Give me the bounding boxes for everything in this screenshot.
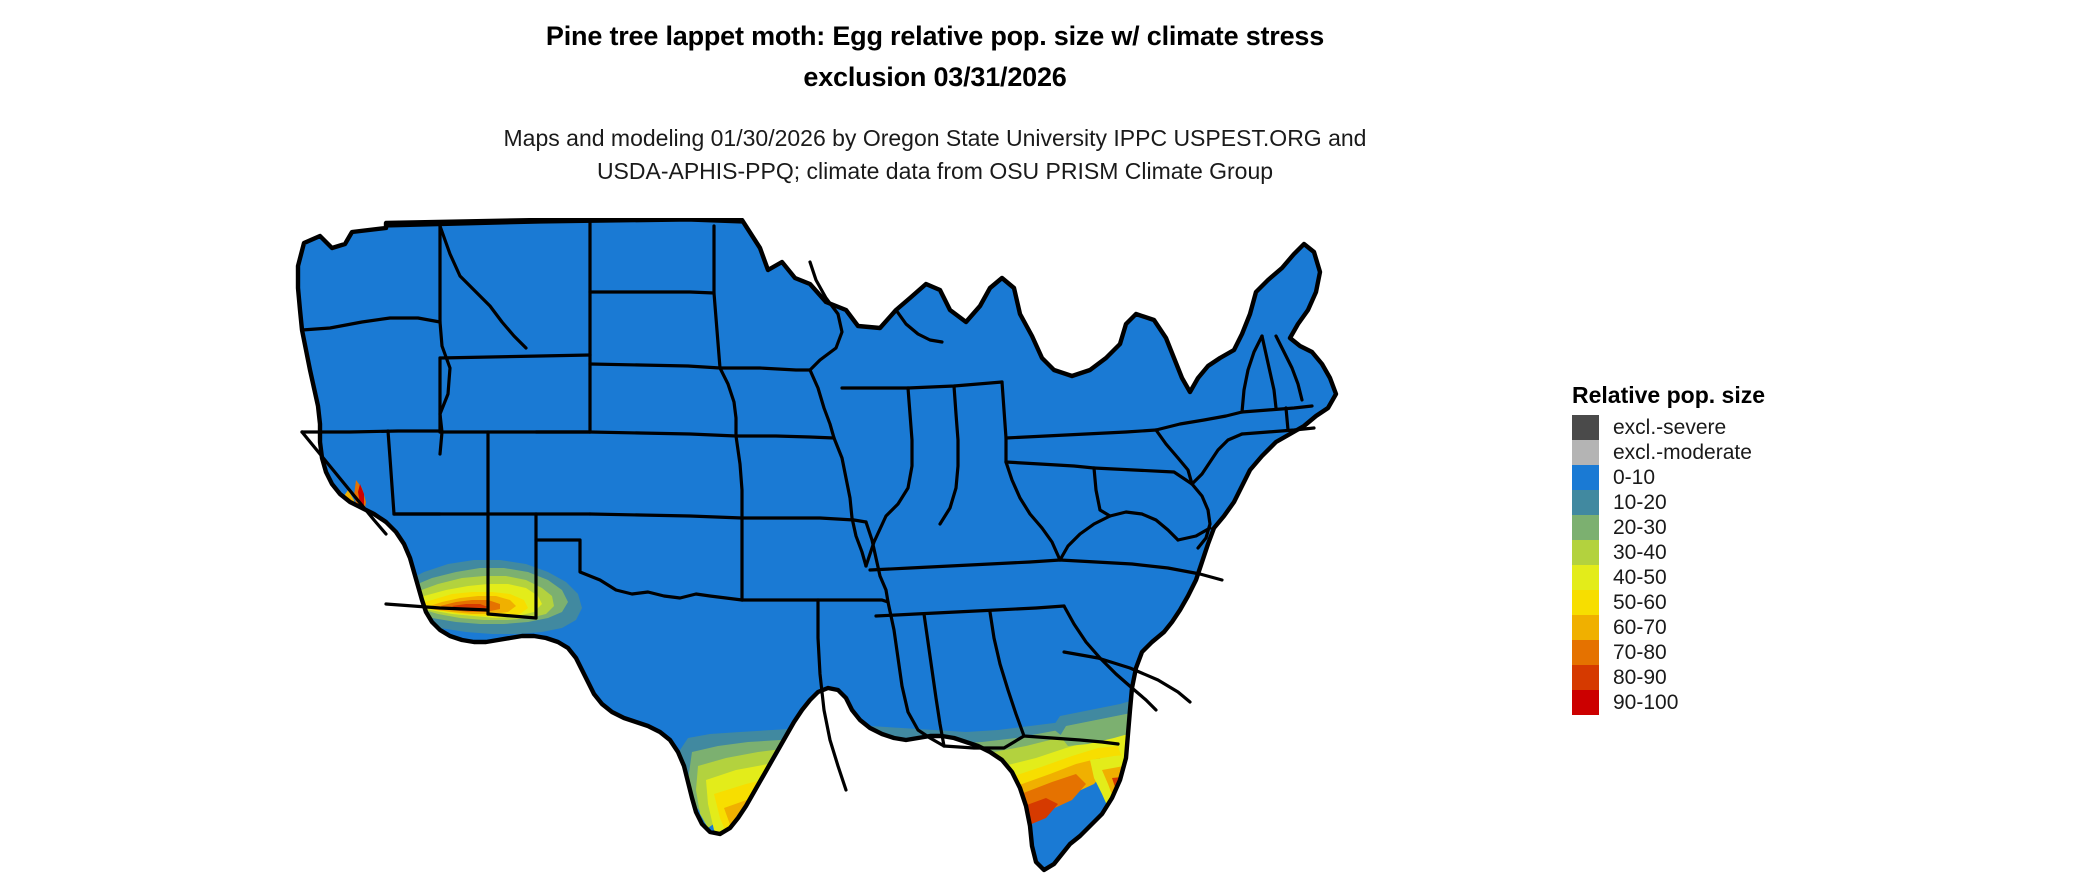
legend-item-label: 0-10 <box>1613 465 1655 490</box>
legend-item-label: 60-70 <box>1613 615 1667 640</box>
legend-item[interactable]: excl.-severe <box>1572 415 1902 440</box>
page-title: Pine tree lappet moth: Egg relative pop.… <box>0 16 1870 98</box>
legend-item[interactable]: 0-10 <box>1572 465 1902 490</box>
map-legend: Relative pop. size excl.-severeexcl.-mod… <box>1572 382 1902 715</box>
legend-color-swatch <box>1572 690 1599 715</box>
legend-item[interactable]: 50-60 <box>1572 590 1902 615</box>
legend-item-label: excl.-moderate <box>1613 440 1752 465</box>
legend-item-label: excl.-severe <box>1613 415 1726 440</box>
subtitle-line-2: USDA-APHIS-PPQ; climate data from OSU PR… <box>0 155 1870 188</box>
band-socal-70-80 <box>332 548 372 586</box>
legend-color-swatch <box>1572 565 1599 590</box>
band-socal-60-70 <box>324 538 384 592</box>
legend-color-swatch <box>1572 540 1599 565</box>
title-line-2: exclusion 03/31/2026 <box>0 57 1870 98</box>
legend-item[interactable]: 40-50 <box>1572 565 1902 590</box>
legend-item[interactable]: 60-70 <box>1572 615 1902 640</box>
legend-color-swatch <box>1572 415 1599 440</box>
band-gulf-80-90 <box>746 798 1058 878</box>
legend-item-label: 50-60 <box>1613 590 1667 615</box>
conus-landmass-fill <box>298 218 1336 870</box>
legend-item[interactable]: 70-80 <box>1572 640 1902 665</box>
legend-color-swatch <box>1572 465 1599 490</box>
legend-color-swatch <box>1572 490 1599 515</box>
page-subtitle: Maps and modeling 01/30/2026 by Oregon S… <box>0 122 1870 188</box>
legend-item-label: 80-90 <box>1613 665 1667 690</box>
map-base-layer <box>298 218 1336 870</box>
band-island-speck-2 <box>308 580 320 588</box>
legend-color-swatch <box>1572 440 1599 465</box>
legend-title: Relative pop. size <box>1572 382 1902 409</box>
us-choropleth-map[interactable] <box>290 218 1550 878</box>
legend-item[interactable]: 30-40 <box>1572 540 1902 565</box>
legend-color-swatch <box>1572 590 1599 615</box>
legend-color-swatch <box>1572 640 1599 665</box>
legend-item-label: 30-40 <box>1613 540 1667 565</box>
legend-item[interactable]: 20-30 <box>1572 515 1902 540</box>
legend-item-label: 10-20 <box>1613 490 1667 515</box>
legend-item[interactable]: 90-100 <box>1572 690 1902 715</box>
legend-item-label: 70-80 <box>1613 640 1667 665</box>
band-island-speck-1 <box>296 568 308 576</box>
band-florida-20-30-south <box>1106 862 1174 878</box>
band-socal-90-100 <box>346 562 360 576</box>
title-line-1: Pine tree lappet moth: Egg relative pop.… <box>0 16 1870 57</box>
band-florida-60-70 <box>1102 766 1170 854</box>
legend-item-label: 40-50 <box>1613 565 1667 590</box>
band-socal-40-50 <box>316 528 400 600</box>
legend-color-swatch <box>1572 515 1599 540</box>
band-florida-90-100 <box>1120 788 1150 832</box>
legend-item[interactable]: 10-20 <box>1572 490 1902 515</box>
band-florida-30-40-south <box>1104 842 1174 878</box>
subtitle-line-1: Maps and modeling 01/30/2026 by Oregon S… <box>0 122 1870 155</box>
map-svg[interactable] <box>290 218 1550 878</box>
legend-item[interactable]: excl.-moderate <box>1572 440 1902 465</box>
band-gulf-90-100 <box>760 818 1032 878</box>
legend-item-label: 20-30 <box>1613 515 1667 540</box>
legend-item[interactable]: 80-90 <box>1572 665 1902 690</box>
map-canvas: Pine tree lappet moth: Egg relative pop.… <box>0 0 2100 892</box>
legend-rows: excl.-severeexcl.-moderate0-1010-2020-30… <box>1572 415 1902 715</box>
band-socal-80-90 <box>340 556 364 580</box>
legend-color-swatch <box>1572 665 1599 690</box>
legend-item-label: 90-100 <box>1613 690 1678 715</box>
legend-color-swatch <box>1572 615 1599 640</box>
